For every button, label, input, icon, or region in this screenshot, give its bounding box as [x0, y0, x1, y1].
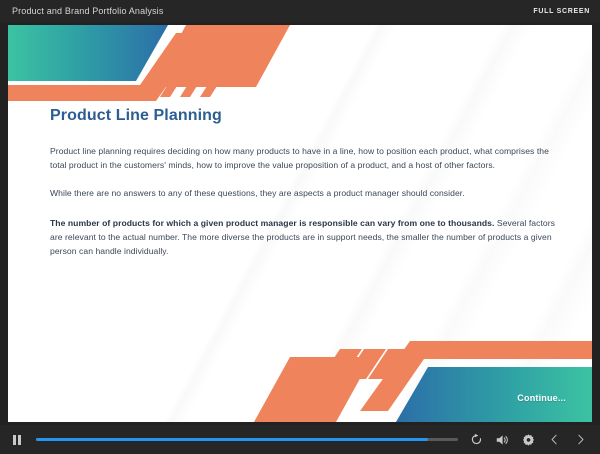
- course-player: Product and Brand Portfolio Analysis FUL…: [0, 0, 600, 454]
- bottom-right-decoration: [252, 327, 592, 422]
- pause-button[interactable]: [8, 431, 26, 449]
- progress-bar-track[interactable]: [36, 438, 458, 441]
- chevron-right-icon: [574, 433, 587, 446]
- chevron-left-icon: [548, 433, 561, 446]
- playbar-right-controls: [466, 431, 590, 449]
- progress-bar-fill: [36, 438, 428, 441]
- page-title: Product Line Planning: [50, 107, 556, 125]
- slide-canvas: Product Line Planning Product line plann…: [8, 25, 592, 422]
- paragraph-3-bold-lead: The number of products for which a given…: [50, 218, 494, 228]
- slide-stage: Product Line Planning Product line plann…: [0, 22, 600, 425]
- paragraph-1: Product line planning requires deciding …: [50, 145, 556, 173]
- settings-button[interactable]: [518, 431, 538, 449]
- title-bar: Product and Brand Portfolio Analysis FUL…: [0, 0, 600, 22]
- paragraph-3: The number of products for which a given…: [50, 217, 556, 259]
- previous-button[interactable]: [544, 431, 564, 449]
- gear-icon: [522, 433, 535, 446]
- next-button[interactable]: [570, 431, 590, 449]
- course-title: Product and Brand Portfolio Analysis: [12, 6, 163, 16]
- playback-controls: [0, 425, 600, 454]
- fullscreen-button[interactable]: FULL SCREEN: [533, 8, 590, 15]
- volume-button[interactable]: [492, 431, 512, 449]
- replay-button[interactable]: [466, 431, 486, 449]
- pause-icon: [13, 435, 21, 445]
- replay-icon: [470, 433, 483, 446]
- top-left-decoration: [8, 25, 338, 117]
- volume-icon: [495, 433, 509, 447]
- continue-button[interactable]: Continue...: [517, 393, 566, 403]
- slide-content: Product Line Planning Product line plann…: [50, 107, 556, 273]
- paragraph-2: While there are no answers to any of the…: [50, 187, 556, 201]
